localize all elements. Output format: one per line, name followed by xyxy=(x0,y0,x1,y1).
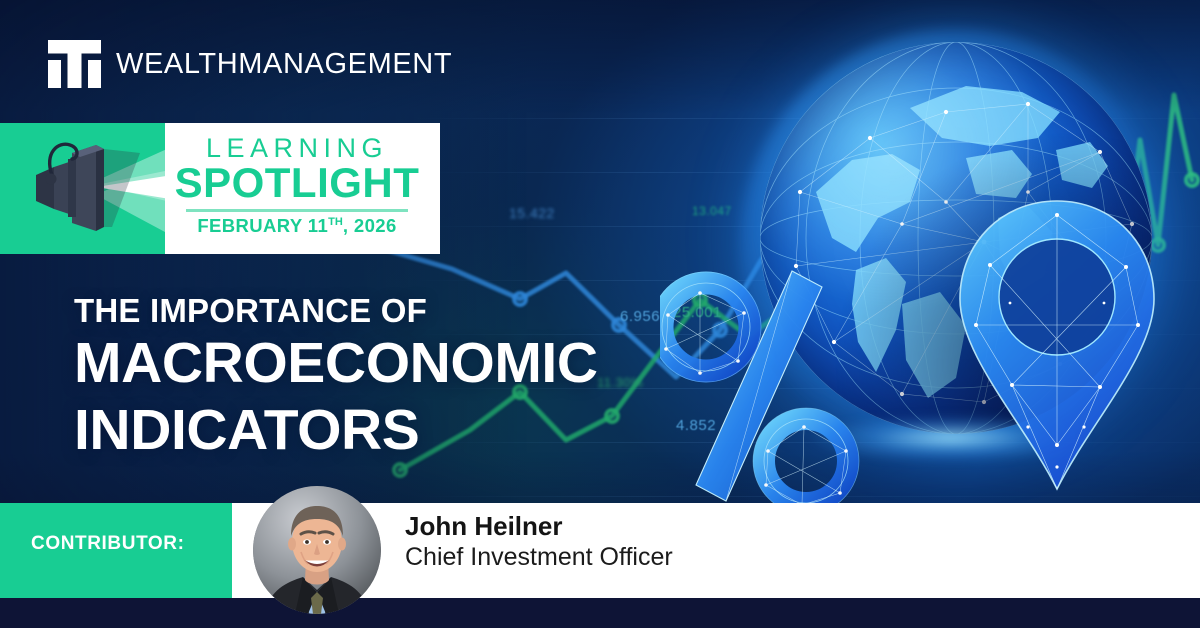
banner-date-ordinal: TH xyxy=(328,216,343,228)
avatar-portrait-illustration xyxy=(253,486,381,614)
map-location-pin-icon xyxy=(950,195,1165,495)
banner-line-learning: LEARNING xyxy=(168,135,426,162)
hero-artwork xyxy=(660,20,1200,540)
banner-text-block: LEARNING SPOTLIGHT FEBRUARY 11TH, 2026 xyxy=(168,131,426,235)
contributor-name: John Heilner xyxy=(405,512,673,541)
banner-date-monthday: FEBRUARY 11 xyxy=(197,215,328,236)
banner-divider xyxy=(186,209,408,212)
banner-date-year: , 2026 xyxy=(343,215,397,236)
headline-line-2: INDICATORS xyxy=(74,400,598,461)
banner-date: FEBRUARY 11TH, 2026 xyxy=(168,217,426,236)
wealthmanagement-t-mark-icon xyxy=(48,40,101,88)
percent-symbol-icon xyxy=(660,265,890,515)
headline-line-1: MACROECONOMIC xyxy=(74,333,598,394)
banner-line-spotlight: SPOTLIGHT xyxy=(168,162,426,205)
promo-banner-canvas: 6.95625.0014.85215.42213.04723.011.30%5.… xyxy=(0,0,1200,628)
contributor-headshot-avatar xyxy=(253,486,381,614)
bottom-navy-strip xyxy=(0,598,1200,628)
contributor-title: Chief Investment Officer xyxy=(405,543,673,571)
learning-spotlight-banner: LEARNING SPOTLIGHT FEBRUARY 11TH, 2026 xyxy=(0,123,440,254)
contributor-label: CONTRIBUTOR: xyxy=(31,533,185,555)
headline-eyebrow: THE IMPORTANCE OF xyxy=(74,294,598,327)
contributor-details: John Heilner Chief Investment Officer xyxy=(405,512,673,571)
brand-logo[interactable]: WEALTHMANAGEMENT xyxy=(48,40,452,88)
brand-name: WEALTHMANAGEMENT xyxy=(116,48,452,81)
headline-block: THE IMPORTANCE OF MACROECONOMIC INDICATO… xyxy=(74,294,598,461)
